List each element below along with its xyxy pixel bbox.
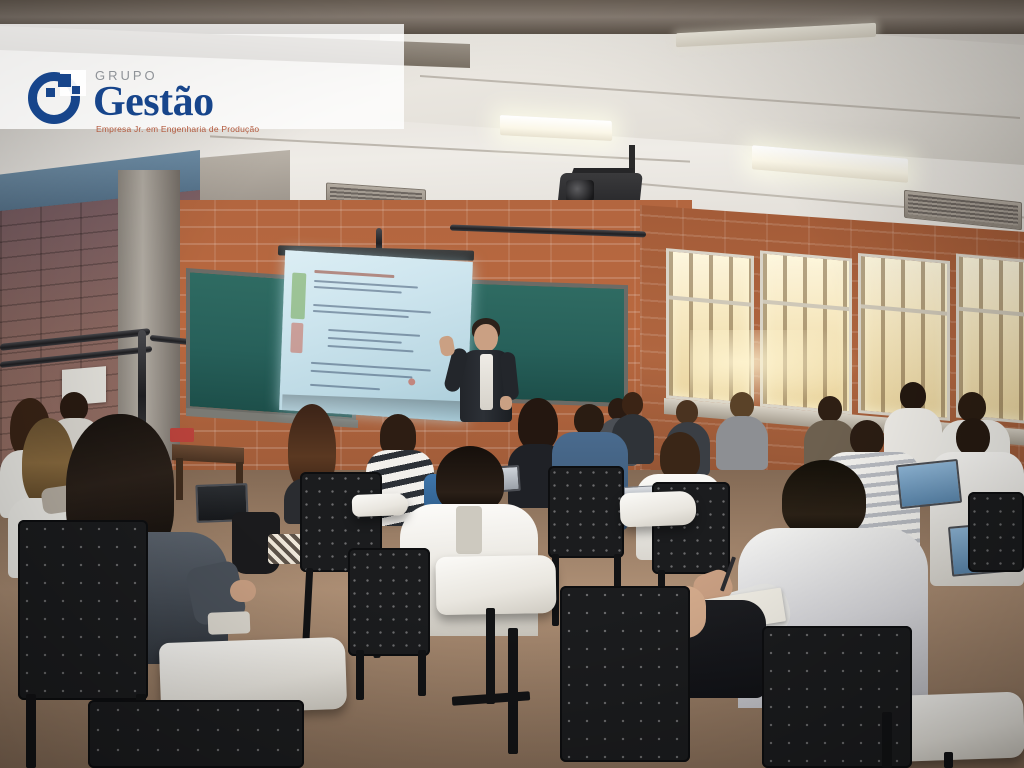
chair-back-2 (548, 466, 624, 558)
chair-back-right (968, 492, 1024, 572)
slide-text-line (311, 370, 413, 379)
tablet-desk-far (352, 493, 409, 517)
student-head (818, 396, 842, 422)
projector-lens-icon (566, 180, 594, 202)
window-bars-icon (763, 254, 849, 412)
chair-back-foreground-bottom (88, 700, 304, 768)
slide-text-line (328, 345, 414, 353)
slide-text-line (314, 286, 402, 294)
chair-perforations (348, 548, 430, 656)
slide-text-line (328, 329, 420, 337)
student-hair (436, 446, 504, 512)
student-head (900, 382, 926, 410)
window-bars-icon (669, 251, 751, 402)
chair-leg (882, 712, 892, 768)
lecturer-head (474, 324, 498, 352)
slide-text-line (310, 384, 380, 391)
chair-back-foreground-left (18, 520, 148, 700)
chair-perforations (548, 466, 624, 558)
chair-back-foreground-center (560, 586, 690, 762)
lecturer-hand-raised (438, 335, 455, 357)
small-stool (208, 611, 251, 634)
logo-square-2 (72, 86, 80, 94)
tablet-desk-mid (619, 491, 696, 528)
chair-leg (356, 650, 364, 700)
logo-square-1 (58, 74, 71, 87)
slide-heading (314, 270, 394, 278)
logo-square-3 (46, 88, 55, 97)
classroom-photo: GRUPO Gestão Empresa Jr. em Engenharia d… (0, 0, 1024, 768)
slide-green-block (291, 272, 307, 319)
lecturer-shirt (480, 354, 493, 410)
student-far-4 (716, 392, 768, 470)
chair-leg (508, 628, 518, 754)
chair-perforations (968, 492, 1024, 572)
logo-tagline: Empresa Jr. em Engenharia de Produção (96, 124, 259, 134)
shirt-collar (456, 506, 482, 554)
student-head (730, 392, 754, 418)
grupo-gestao-circle-mark-icon (28, 72, 84, 128)
chair-back-mid-left (348, 548, 430, 656)
desk-post-right (944, 752, 953, 768)
chair-leg (26, 694, 36, 768)
chair-perforations (18, 520, 148, 700)
logo-banner: GRUPO Gestão Empresa Jr. em Engenharia d… (0, 24, 404, 129)
student-hair (782, 460, 866, 538)
slide-bullet-dot (408, 378, 415, 385)
chair-perforations (560, 586, 690, 762)
desk-post-center (486, 608, 495, 704)
tablet-desk-center (436, 555, 557, 615)
student-head (676, 400, 698, 424)
student-hand (230, 580, 256, 602)
student-head (850, 420, 884, 456)
chair-perforations (88, 700, 304, 768)
window-2 (760, 250, 852, 414)
student-hair (660, 432, 700, 480)
student-head (956, 418, 990, 456)
logo-gestao-word: Gestão (93, 78, 214, 126)
chair-leg (418, 650, 426, 696)
slide-text-line (328, 337, 402, 344)
slide-red-block (290, 323, 303, 354)
window-1 (666, 248, 754, 406)
